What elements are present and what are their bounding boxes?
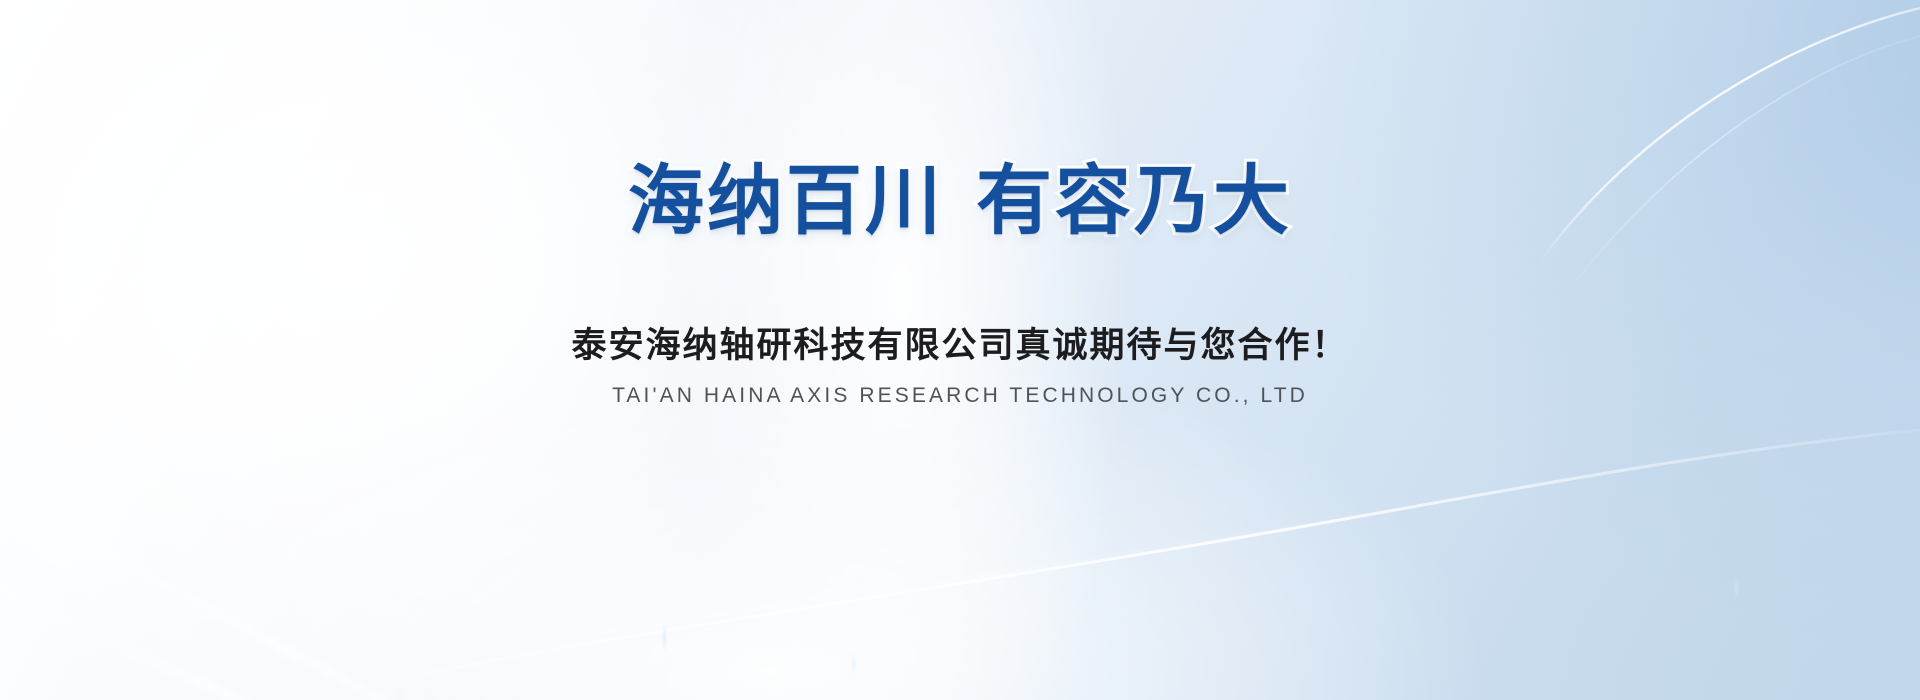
banner-content: 海纳百川有容乃大 泰安海纳轴研科技有限公司真诚期待与您合作！ TAI'AN HA… (0, 0, 1920, 700)
banner-subtitle-chinese: 泰安海纳轴研科技有限公司真诚期待与您合作！ (571, 317, 1348, 368)
headline-phrase-1: 海纳百川 (628, 159, 944, 244)
hero-banner: 海纳百川有容乃大 泰安海纳轴研科技有限公司真诚期待与您合作！ TAI'AN HA… (0, 0, 1920, 700)
banner-subtitle-english: TAI'AN HAINA AXIS RESEARCH TECHNOLOGY CO… (612, 384, 1308, 408)
headline-phrase-2: 有容乃大 (976, 159, 1292, 244)
banner-headline: 海纳百川有容乃大 (628, 158, 1292, 245)
